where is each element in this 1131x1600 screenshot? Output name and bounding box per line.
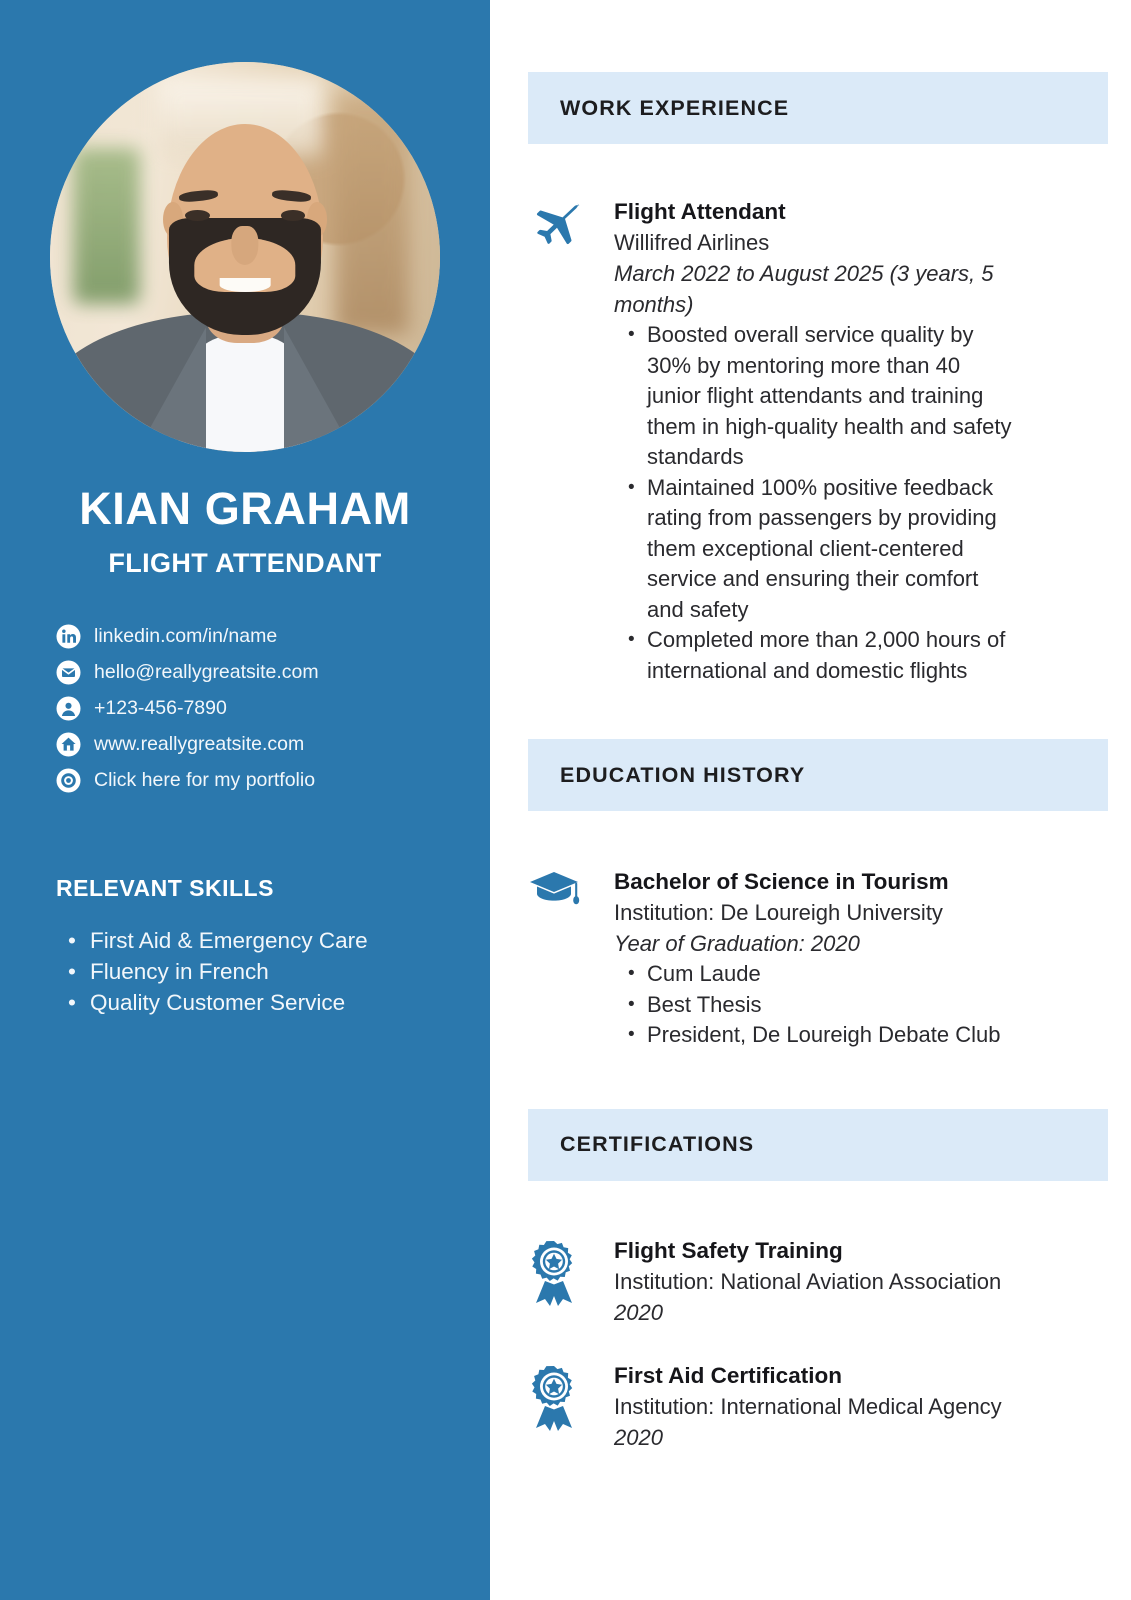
list-item: Boosted overall service quality by 30% b… xyxy=(647,320,1014,473)
graduation-cap-icon xyxy=(528,866,614,1051)
section-header-certifications: CERTIFICATIONS xyxy=(528,1109,1108,1181)
photo-nose xyxy=(231,226,258,265)
contact-portfolio-text: Click here for my portfolio xyxy=(94,768,315,793)
work-bullets: Boosted overall service quality by 30% b… xyxy=(647,320,1014,686)
home-icon xyxy=(56,732,81,757)
list-item: Quality Customer Service xyxy=(90,987,490,1018)
job-title: FLIGHT ATTENDANT xyxy=(0,550,490,577)
work-company: Willifred Airlines xyxy=(614,227,1014,258)
person-icon xyxy=(56,696,81,721)
contact-email[interactable]: hello@reallygreatsite.com xyxy=(56,660,490,685)
education-entry-body: Bachelor of Science in Tourism Instituti… xyxy=(614,866,1034,1051)
certification-institution: Institution: National Aviation Associati… xyxy=(614,1266,1044,1297)
full-name: KIAN GRAHAM xyxy=(0,486,490,531)
certification-year: 2020 xyxy=(614,1422,1044,1453)
certification-entry-body: First Aid Certification Institution: Int… xyxy=(614,1360,1044,1453)
work-job-title: Flight Attendant xyxy=(614,196,1014,227)
list-item: Best Thesis xyxy=(647,990,1034,1021)
certification-title: First Aid Certification xyxy=(614,1360,1044,1391)
work-dates: March 2022 to August 2025 (3 years, 5 mo… xyxy=(614,258,1014,320)
resume-page: KIAN GRAHAM FLIGHT ATTENDANT linkedin.co… xyxy=(0,0,1131,1600)
list-item: First Aid & Emergency Care xyxy=(90,925,490,956)
linkedin-icon xyxy=(56,624,81,649)
avatar xyxy=(50,62,440,452)
section-header-education: EDUCATION HISTORY xyxy=(528,739,1108,811)
photo-foliage-blur xyxy=(73,148,139,304)
education-entry: Bachelor of Science in Tourism Instituti… xyxy=(528,866,1111,1051)
award-ribbon-icon xyxy=(528,1360,614,1453)
main-content: WORK EXPERIENCE Flight Attendant Willifr… xyxy=(490,0,1131,1600)
section-title-certifications: CERTIFICATIONS xyxy=(560,1132,754,1157)
education-degree: Bachelor of Science in Tourism xyxy=(614,866,1034,897)
contact-website-text: www.reallygreatsite.com xyxy=(94,732,304,757)
airplane-icon xyxy=(528,196,614,686)
certification-institution: Institution: International Medical Agenc… xyxy=(614,1391,1044,1422)
photo-door-blur xyxy=(335,93,409,335)
list-item: Cum Laude xyxy=(647,959,1034,990)
certification-title: Flight Safety Training xyxy=(614,1235,1044,1266)
contact-portfolio[interactable]: Click here for my portfolio xyxy=(56,768,490,793)
contact-linkedin-text: linkedin.com/in/name xyxy=(94,624,277,649)
education-graduation-year: Year of Graduation: 2020 xyxy=(614,928,1034,959)
sidebar: KIAN GRAHAM FLIGHT ATTENDANT linkedin.co… xyxy=(0,0,490,1600)
award-ribbon-icon xyxy=(528,1235,614,1328)
certification-entry: Flight Safety Training Institution: Nati… xyxy=(528,1235,1111,1328)
certification-year: 2020 xyxy=(614,1297,1044,1328)
certification-entry-body: Flight Safety Training Institution: Nati… xyxy=(614,1235,1044,1328)
work-entry: Flight Attendant Willifred Airlines Marc… xyxy=(528,196,1111,686)
contact-email-text: hello@reallygreatsite.com xyxy=(94,660,319,685)
contact-list: linkedin.com/in/name hello@reallygreatsi… xyxy=(56,624,490,793)
list-item: Completed more than 2,000 hours of inter… xyxy=(647,625,1014,686)
section-title-education: EDUCATION HISTORY xyxy=(560,763,805,788)
list-item: President, De Loureigh Debate Club xyxy=(647,1020,1034,1051)
list-item: Fluency in French xyxy=(90,956,490,987)
contact-phone[interactable]: +123-456-7890 xyxy=(56,696,490,721)
section-header-work: WORK EXPERIENCE xyxy=(528,72,1108,144)
list-item: Maintained 100% positive feedback rating… xyxy=(647,473,1014,626)
contact-linkedin[interactable]: linkedin.com/in/name xyxy=(56,624,490,649)
email-icon xyxy=(56,660,81,685)
skills-list: First Aid & Emergency Care Fluency in Fr… xyxy=(90,925,490,1018)
contact-website[interactable]: www.reallygreatsite.com xyxy=(56,732,490,757)
contact-phone-text: +123-456-7890 xyxy=(94,696,227,721)
work-entry-body: Flight Attendant Willifred Airlines Marc… xyxy=(614,196,1014,686)
skills-heading: RELEVANT SKILLS xyxy=(56,875,490,902)
section-title-work: WORK EXPERIENCE xyxy=(560,96,789,121)
education-institution: Institution: De Loureigh University xyxy=(614,897,1034,928)
photo-eye-left xyxy=(185,210,210,221)
education-bullets: Cum Laude Best Thesis President, De Lour… xyxy=(647,959,1034,1051)
photo-smile xyxy=(220,278,271,292)
certification-entry: First Aid Certification Institution: Int… xyxy=(528,1360,1111,1453)
target-icon xyxy=(56,768,81,793)
